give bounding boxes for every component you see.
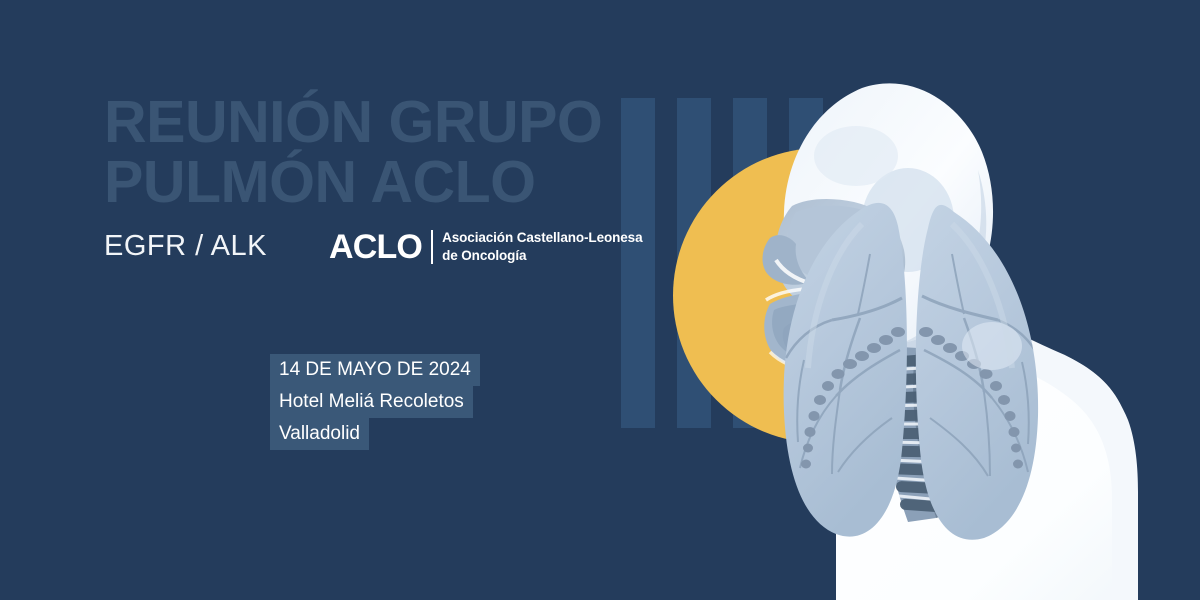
poster-title: REUNIÓN GRUPO PULMÓN ACLO xyxy=(104,92,664,212)
event-details: 14 DE MAYO DE 2024 Hotel Meliá Recoletos… xyxy=(270,354,480,450)
event-venue: Hotel Meliá Recoletos xyxy=(270,386,473,418)
biomarker-label: EGFR / ALK xyxy=(104,232,267,261)
event-poster: REUNIÓN GRUPO PULMÓN ACLO EGFR / ALK ACL… xyxy=(0,0,1200,600)
event-date: 14 DE MAYO DE 2024 xyxy=(270,354,480,386)
respiratory-system-illustration xyxy=(740,60,1200,600)
aclo-logo: ACLO Asociación Castellano-Leonesa de On… xyxy=(329,229,643,265)
event-city: Valladolid xyxy=(270,418,369,450)
right-lung xyxy=(916,205,1040,540)
logo-divider xyxy=(431,230,433,264)
branding-row: EGFR / ALK ACLO Asociación Castellano-Le… xyxy=(104,229,643,265)
aclo-wordmark: ACLO xyxy=(329,230,422,264)
aclo-tagline: Asociación Castellano-Leonesa de Oncolog… xyxy=(442,229,642,265)
